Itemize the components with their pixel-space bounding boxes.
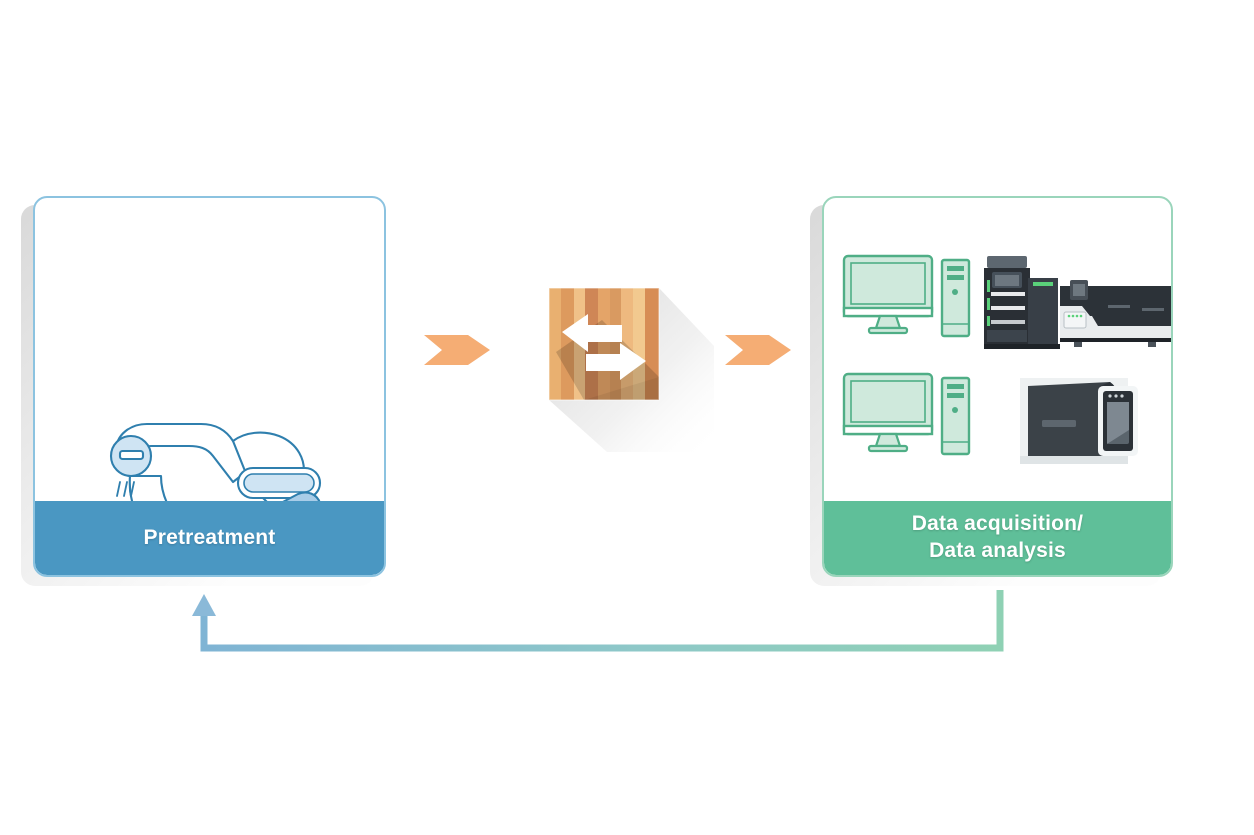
pretreatment-label: Pretreatment (35, 501, 384, 575)
instrument-row-bottom (842, 368, 1172, 473)
diagram-canvas: Robot arm Centrifuge Pretreatment (0, 0, 1254, 835)
desktop-monitor-icon (844, 374, 932, 451)
instrument-row-top (842, 250, 1172, 355)
data-acquisition-label: Data acquisition/ Data analysis (824, 501, 1171, 575)
data-label-line-2: Data analysis (929, 539, 1066, 562)
chevron-right-icon (424, 327, 492, 373)
data-acquisition-panel[interactable]: Data acquisition/ Data analysis (822, 196, 1173, 577)
mass-spectrometer-icon (1060, 280, 1172, 347)
pretreatment-panel[interactable]: Robot arm Centrifuge Pretreatment (33, 196, 386, 577)
desktop-monitor-icon (844, 256, 932, 333)
desktop-tower-icon (942, 260, 969, 336)
data-label-line-1: Data acquisition/ (912, 512, 1083, 535)
bench-top-analyzer-icon (1020, 378, 1138, 464)
feedback-loop-arrow (0, 580, 1254, 670)
data-panel-body (824, 198, 1171, 506)
desktop-tower-icon (942, 378, 969, 454)
bidirectional-arrows-icon (524, 272, 714, 452)
pretreatment-panel-body: Robot arm Centrifuge (35, 198, 384, 506)
liquid-chromatograph-icon (984, 256, 1060, 349)
chevron-right-icon (725, 327, 793, 373)
